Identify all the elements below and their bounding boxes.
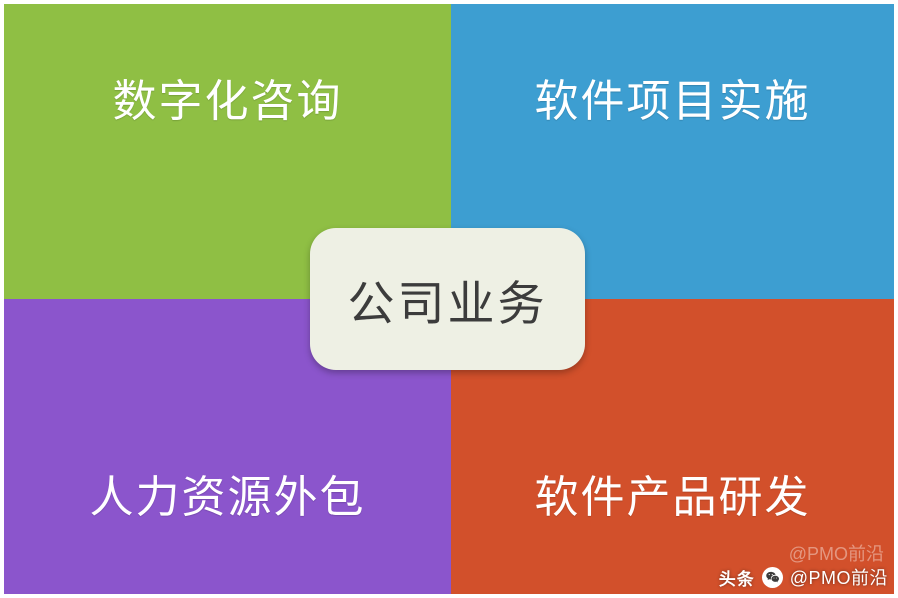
center-node-label: 公司业务 [348,265,548,334]
watermark-account-name-faded: @PMO前沿 [789,540,884,566]
toutiao-logo-text: 头条 [719,565,755,590]
center-node[interactable]: 公司业务 [310,228,585,370]
quadrant-top-left-label: 数字化咨询 [113,78,343,126]
watermark-account-name: @PMO前沿 [790,564,888,590]
quadrant-bottom-right-label: 软件产品研发 [535,474,811,522]
quadrant-bottom-left-label: 人力资源外包 [90,474,366,522]
wechat-icon [762,567,783,588]
watermark: 头条 @PMO前沿 [719,564,888,590]
business-quadrant-diagram: 数字化咨询 软件项目实施 人力资源外包 软件产品研发 公司业务 @PMO前沿 头… [0,0,898,598]
quadrant-top-right-label: 软件项目实施 [535,78,811,126]
